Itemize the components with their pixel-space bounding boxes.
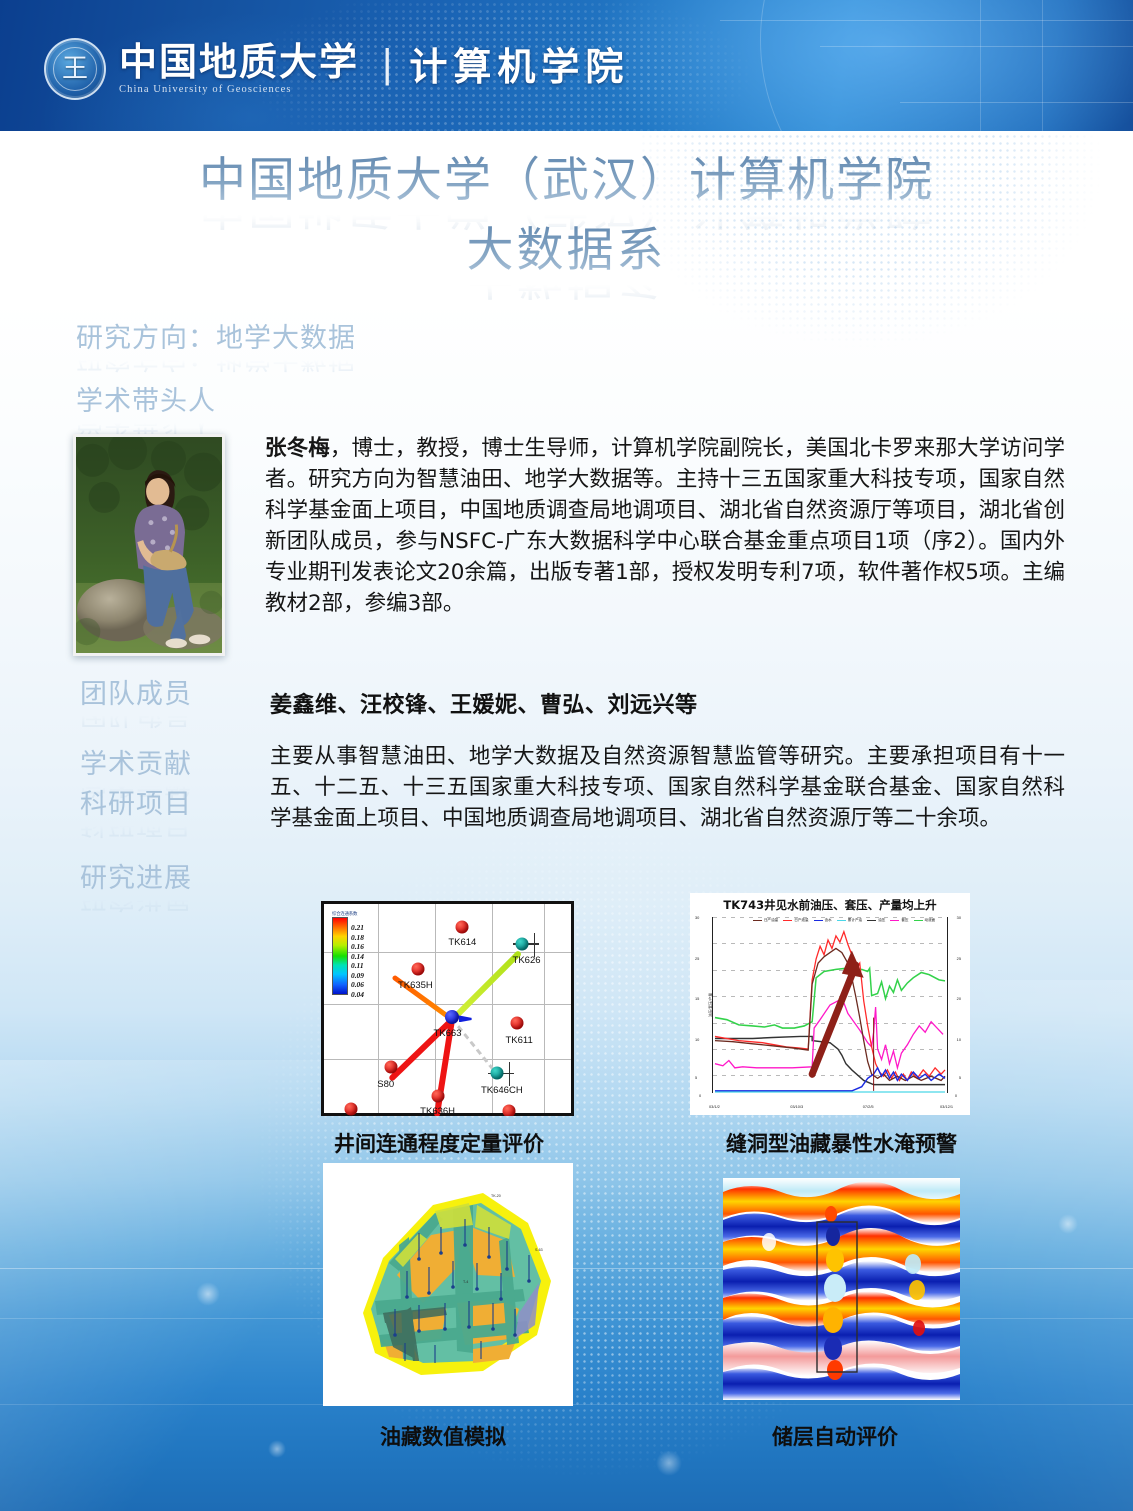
leader-bio: ，博士，教授，博士生导师，计算机学院副院长，美国北卡罗来那大学访问学者。研究方向…	[265, 436, 1065, 616]
ytick-left-5: 5	[695, 1075, 697, 1080]
bg-glow-3	[656, 1450, 682, 1476]
chart-title: TK743井见水前油压、套压、产量均上升	[690, 897, 970, 913]
leader-portrait-photo	[73, 434, 225, 656]
svg-text:TK-20: TK-20	[491, 1194, 501, 1198]
label-research-projects: 科研项目 科研项目	[80, 789, 192, 839]
poster-title-line2-reflection: 大数据系	[0, 272, 1133, 306]
ytick-left-2: 25	[695, 956, 699, 961]
logo-chinese-name: 中国地质大学	[119, 42, 359, 82]
well-label-TK611: TK611	[505, 1035, 532, 1046]
legend-value-6: 0.06	[351, 980, 364, 990]
well-TK614	[456, 920, 469, 933]
contribution-text: 主要从事智慧油田、地学大数据及自然资源智慧监管等研究。主要承担项目有十一五、十二…	[270, 742, 1065, 835]
label-academic-leader-reflection: 学术带头人	[76, 416, 216, 436]
well-TK611	[510, 1017, 523, 1030]
figure-well-connectivity: TK614 TK626 TK635H TK663 TK611 S80 TK646…	[321, 901, 574, 1116]
seismic-section	[723, 1178, 960, 1400]
ytick-right-3: 20	[957, 996, 961, 1001]
logo-divider: |	[382, 44, 392, 84]
university-seal-icon: 王	[44, 38, 106, 100]
legend-value-1: 0.18	[351, 933, 364, 943]
figure-2-caption: 缝洞型油藏暴性水淹预警	[726, 1128, 957, 1158]
xtick-1: 03/10/3	[790, 1104, 803, 1109]
grid-h2	[324, 1004, 571, 1005]
ytick-right-top: 30	[957, 915, 961, 920]
legend-values: 0.21 0.18 0.16 0.14 0.11 0.09 0.06 0.04	[351, 923, 364, 999]
well-TK626	[515, 937, 528, 950]
chart-plot-area: 日产油量 日产液量 含水 累计产油 油压 套压 动液面	[712, 917, 948, 1093]
seal-glyph: 王	[62, 56, 88, 82]
bg-glow-4	[268, 1440, 286, 1458]
well-TK663	[445, 1010, 459, 1024]
label-academic-leader: 学术带头人 学术带头人	[76, 386, 216, 436]
well-TK636H	[431, 1090, 444, 1103]
well-extra-left	[345, 1102, 358, 1115]
bg-glow-2	[1058, 1214, 1078, 1234]
label-research-direction-reflection: 研究方向：地学大数据	[76, 353, 356, 373]
well-label-TK614: TK614	[448, 937, 476, 948]
well-label-TK626: TK626	[513, 955, 541, 966]
xtick-3: 03/12/1	[940, 1104, 953, 1109]
label-team-members-reflection: 团队成员	[80, 709, 192, 729]
poster-title-line1-reflection: 中国地质大学（武汉）计算机学院	[0, 202, 1133, 236]
well-label-TK646CH: TK646CH	[481, 1085, 523, 1096]
figure-1-caption: 井间连通程度定量评价	[334, 1128, 544, 1158]
figure-reservoir-simulation: TK-20S-63T-4	[323, 1163, 573, 1406]
xtick-2: 07/2/5	[863, 1104, 874, 1109]
grid-v4	[544, 904, 545, 1113]
well-TK663-marker	[459, 1015, 472, 1022]
legend-value-5: 0.09	[351, 971, 364, 981]
poster-root: 王 中国地质大学 China University of Geosciences…	[0, 0, 1133, 1511]
header-banner: 王 中国地质大学 China University of Geosciences…	[0, 0, 1133, 131]
legend-colorbar	[332, 917, 348, 995]
ytick-right-6: 0	[955, 1093, 957, 1098]
leader-bio-text: 张冬梅，博士，教授，博士生导师，计算机学院副院长，美国北卡罗来那大学访问学者。研…	[265, 434, 1065, 620]
timeseries-plot: TK743井见水前油压、套压、产量均上升 日产油量 日产液量 含水 累计产油 油…	[690, 893, 970, 1115]
legend-value-2: 0.16	[351, 942, 364, 952]
well-extra-right	[503, 1104, 516, 1116]
bg-glow-1	[196, 1282, 220, 1306]
figure-4-caption: 储层自动评价	[772, 1421, 898, 1451]
well-label-S80: S80	[377, 1079, 394, 1090]
xtick-0: 03/1/2	[709, 1104, 720, 1109]
label-research-projects-reflection: 科研项目	[80, 819, 192, 839]
banner-arc	[760, 0, 1133, 131]
well-label-TK636H: TK636H	[420, 1106, 455, 1116]
legend-value-3: 0.14	[351, 952, 364, 962]
label-research-progress-reflection: 研究进展	[80, 893, 192, 913]
logo-english-name: China University of Geosciences	[119, 84, 359, 95]
figure-reservoir-evaluation	[723, 1178, 960, 1400]
ytick-left-top: 30	[695, 915, 699, 920]
reservoir-3d-model: TK-20S-63T-4	[323, 1163, 573, 1406]
well-TK635H	[411, 962, 424, 975]
label-research-progress: 研究进展 研究进展	[80, 863, 192, 913]
connectivity-colorbar-legend: 综合连通系数 0.21 0.18 0.16 0.14 0.11 0.09 0.0…	[332, 911, 380, 995]
ytick-right-5: 5	[959, 1075, 961, 1080]
team-members-text: 姜鑫维、汪校锋、王媛妮、曹弘、刘远兴等	[270, 687, 698, 719]
ytick-right-4: 10	[957, 1037, 961, 1042]
legend-value-7: 0.04	[351, 990, 364, 1000]
university-logo: 王 中国地质大学 China University of Geosciences…	[44, 36, 629, 101]
label-research-direction: 研究方向：地学大数据 研究方向：地学大数据	[76, 323, 356, 373]
series-curves	[713, 917, 947, 1093]
svg-text:S-63: S-63	[535, 1248, 543, 1252]
ytick-left-4: 10	[695, 1037, 699, 1042]
figure-flooding-warning: TK743井见水前油压、套压、产量均上升 日产油量 日产液量 含水 累计产油 油…	[690, 893, 970, 1115]
well-S80	[384, 1061, 397, 1074]
logo-college-name: 计算机学院	[409, 36, 629, 91]
chart-ylabel: 油压/套压/产量	[709, 993, 714, 1017]
figure-3-caption: 油藏数值模拟	[380, 1421, 506, 1451]
ytick-left-6: 0	[699, 1093, 701, 1098]
well-label-TK635H: TK635H	[398, 980, 433, 991]
well-label-TK663: TK663	[434, 1028, 462, 1039]
logo-text-block: 中国地质大学 China University of Geosciences	[119, 42, 359, 96]
ytick-left-3: 15	[695, 996, 699, 1001]
poster-title-block: 中国地质大学（武汉）计算机学院 中国地质大学（武汉）计算机学院 大数据系 大数据…	[0, 150, 1133, 306]
well-TK646CH	[490, 1067, 503, 1080]
svg-text:T-4: T-4	[463, 1280, 468, 1284]
ytick-right-2: 25	[957, 956, 961, 961]
legend-value-0: 0.21	[351, 923, 364, 933]
well-connectivity-plot: TK614 TK626 TK635H TK663 TK611 S80 TK646…	[321, 901, 574, 1116]
leader-name: 张冬梅	[265, 436, 330, 461]
grid-v3	[492, 904, 493, 1113]
label-team-members: 团队成员 团队成员	[80, 679, 192, 729]
legend-value-4: 0.11	[351, 961, 364, 971]
